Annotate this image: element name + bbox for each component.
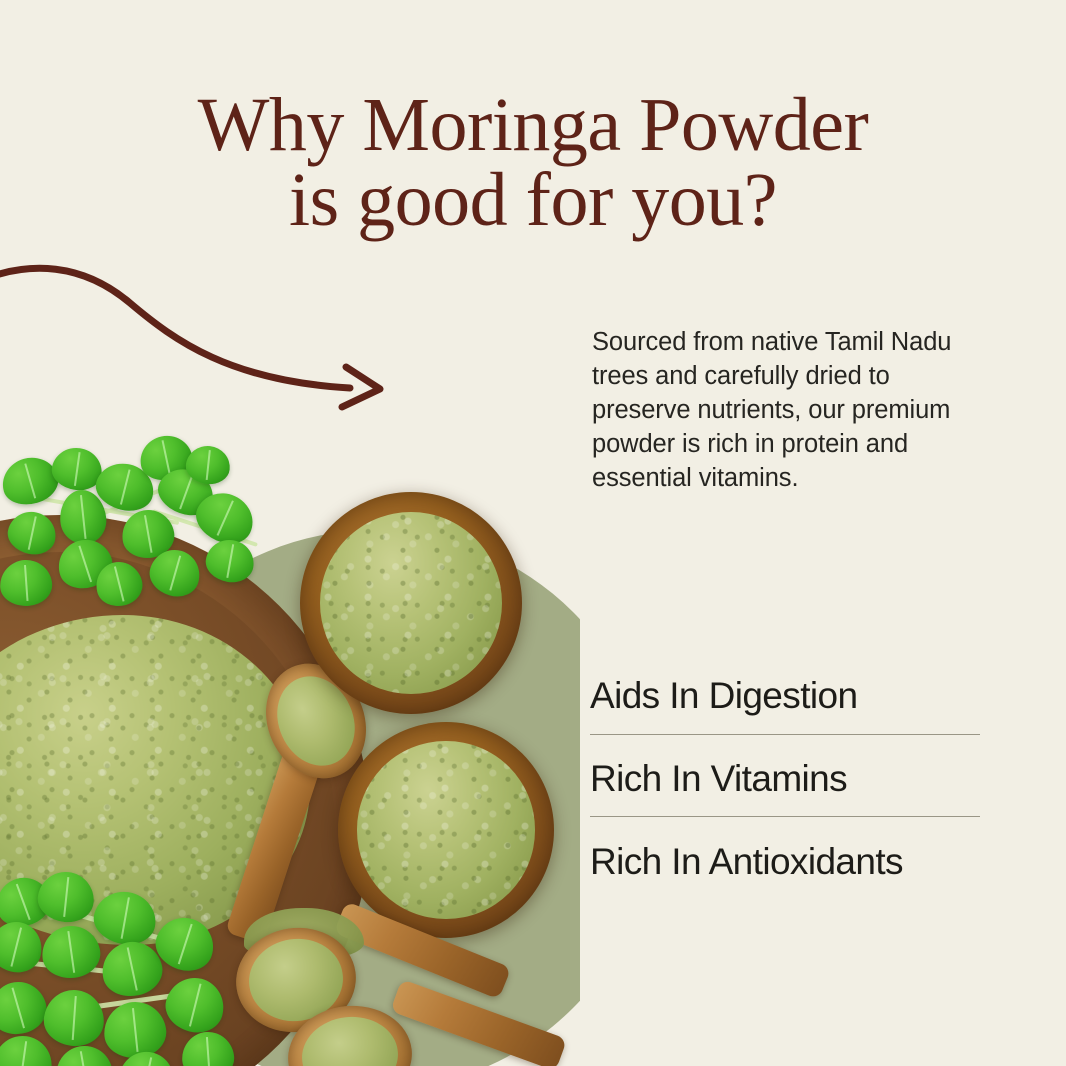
intro-paragraph: Sourced from native Tamil Nadu trees and…	[592, 326, 984, 496]
benefit-item-1: Aids In Digestion	[590, 674, 980, 734]
poster-canvas: Why Moringa Powder is good for you? Sour…	[0, 0, 1066, 1066]
curved-arrow-icon	[0, 255, 410, 430]
benefit-divider-2	[590, 816, 980, 817]
photo-edge-fade	[460, 430, 580, 1066]
page-title-line-2: is good for you?	[0, 163, 1066, 238]
benefits-list: Aids In Digestion Rich In Vitamins Rich …	[590, 674, 980, 900]
benefit-item-2: Rich In Vitamins	[590, 757, 980, 817]
benefit-item-3: Rich In Antioxidants	[590, 839, 980, 900]
page-title-line-1: Why Moringa Powder	[0, 88, 1066, 163]
benefit-divider-1	[590, 734, 980, 735]
moringa-photo	[0, 430, 580, 1066]
spoon-b-powder-fill	[298, 1012, 402, 1066]
page-title: Why Moringa Powder is good for you?	[0, 88, 1066, 238]
